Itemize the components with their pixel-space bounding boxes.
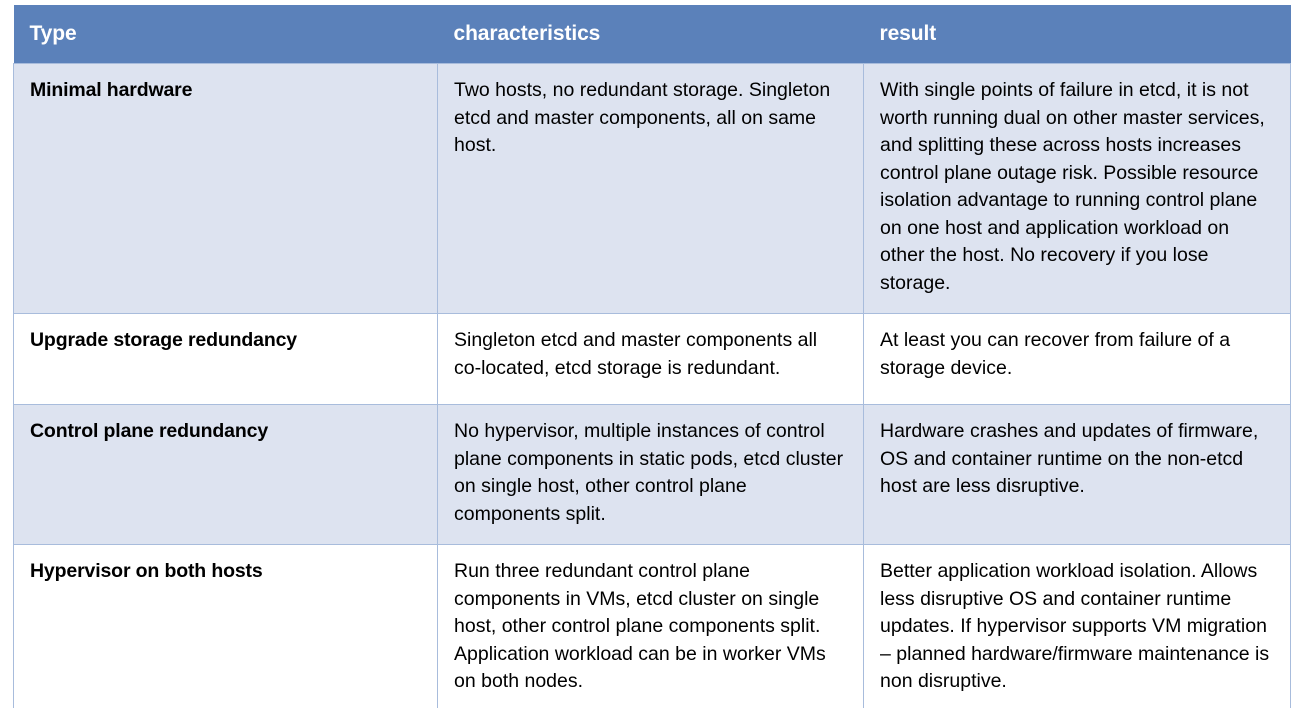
- cell-characteristics: Singleton etcd and master components all…: [438, 314, 864, 405]
- cell-result-text: Hardware crashes and updates of firmware…: [880, 418, 1272, 501]
- cell-type-text: Upgrade storage redundancy: [30, 327, 419, 355]
- cell-result: With single points of failure in etcd, i…: [864, 64, 1291, 314]
- cell-characteristics-text: Singleton etcd and master components all…: [454, 327, 845, 382]
- table-body: Minimal hardware Two hosts, no redundant…: [14, 64, 1291, 708]
- cell-characteristics: Run three redundant control plane compon…: [438, 545, 864, 708]
- cell-result: Hardware crashes and updates of firmware…: [864, 405, 1291, 545]
- cell-type: Control plane redundancy: [14, 405, 438, 545]
- cell-result-text: Better application workload isolation. A…: [880, 558, 1272, 696]
- cell-result-text: With single points of failure in etcd, i…: [880, 77, 1272, 297]
- page-root: Type characteristics result Minimal hard…: [0, 0, 1302, 708]
- cell-characteristics: No hypervisor, multiple instances of con…: [438, 405, 864, 545]
- cell-type: Hypervisor on both hosts: [14, 545, 438, 708]
- cell-characteristics: Two hosts, no redundant storage. Singlet…: [438, 64, 864, 314]
- comparison-table: Type characteristics result Minimal hard…: [13, 5, 1291, 708]
- column-header-result: result: [864, 5, 1291, 64]
- cell-type-text: Hypervisor on both hosts: [30, 558, 419, 586]
- cell-result-text: At least you can recover from failure of…: [880, 327, 1272, 382]
- cell-type-text: Control plane redundancy: [30, 418, 419, 446]
- table-header-row: Type characteristics result: [14, 5, 1291, 64]
- table-row: Upgrade storage redundancy Singleton etc…: [14, 314, 1291, 405]
- cell-type: Upgrade storage redundancy: [14, 314, 438, 405]
- column-header-type: Type: [14, 5, 438, 64]
- cell-characteristics-text: Two hosts, no redundant storage. Singlet…: [454, 77, 845, 160]
- cell-characteristics-text: No hypervisor, multiple instances of con…: [454, 418, 845, 528]
- table-row: Minimal hardware Two hosts, no redundant…: [14, 64, 1291, 314]
- cell-type-text: Minimal hardware: [30, 77, 419, 105]
- cell-characteristics-text: Run three redundant control plane compon…: [454, 558, 845, 696]
- cell-result: At least you can recover from failure of…: [864, 314, 1291, 405]
- cell-type: Minimal hardware: [14, 64, 438, 314]
- cell-result: Better application workload isolation. A…: [864, 545, 1291, 708]
- table-row: Hypervisor on both hosts Run three redun…: [14, 545, 1291, 708]
- table-header: Type characteristics result: [14, 5, 1291, 64]
- column-header-characteristics: characteristics: [438, 5, 864, 64]
- table-row: Control plane redundancy No hypervisor, …: [14, 405, 1291, 545]
